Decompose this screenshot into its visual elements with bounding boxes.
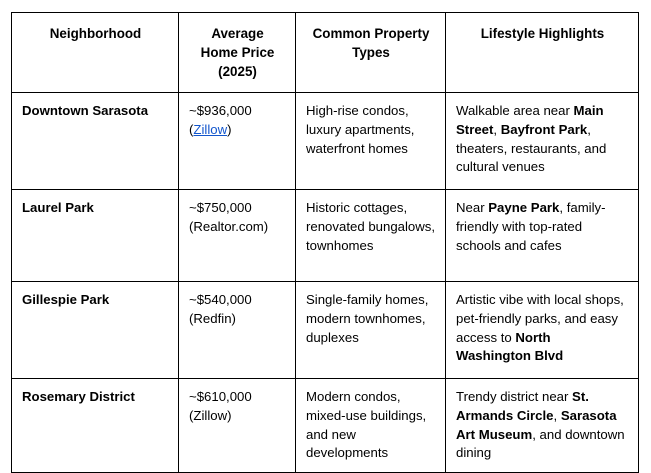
cell-average-home-price: ~$540,000 (Redfin) [179,282,296,379]
price-source-text: Zillow [193,408,227,423]
column-header-price-line-3: (2025) [189,62,286,81]
column-header-price-line-1: Average [189,24,286,43]
cell-neighborhood: Laurel Park [12,190,179,282]
column-header-common-property-types: Common Property Types [296,13,446,93]
cell-lifestyle-highlights: Walkable area near Main Street, Bayfront… [446,93,639,190]
column-header-types-line-2: Types [306,43,436,62]
table-header-row: Neighborhood Average Home Price (2025) C… [12,13,639,93]
price-source-line: (Realtor.com) [189,218,286,237]
table-header: Neighborhood Average Home Price (2025) C… [12,13,639,93]
price-value: ~$540,000 [189,291,286,310]
price-source-text: Redfin [193,311,231,326]
price-source-line: (Redfin) [189,310,286,329]
cell-average-home-price: ~$750,000 (Realtor.com) [179,190,296,282]
column-header-average-home-price: Average Home Price (2025) [179,13,296,93]
neighborhood-comparison-table: Neighborhood Average Home Price (2025) C… [11,12,639,473]
paren-close: ) [232,311,236,326]
price-value: ~$936,000 [189,102,286,121]
table-row: Downtown Sarasota ~$936,000 (Zillow) Hig… [12,93,639,190]
cell-lifestyle-highlights: Near Payne Park, family-friendly with to… [446,190,639,282]
table-row: Laurel Park ~$750,000 (Realtor.com) Hist… [12,190,639,282]
landmark-name: Bayfront Park [501,122,587,137]
column-header-neighborhood-line-1: Neighborhood [22,24,169,43]
table-body: Downtown Sarasota ~$936,000 (Zillow) Hig… [12,93,639,473]
cell-common-property-types: Modern condos, mixed-use buildings, and … [296,379,446,473]
price-value: ~$750,000 [189,199,286,218]
cell-average-home-price: ~$936,000 (Zillow) [179,93,296,190]
column-header-lifestyle-line-1: Lifestyle Highlights [456,24,629,43]
lifestyle-text: Walkable area near [456,103,574,118]
lifestyle-text: Trendy district near [456,389,572,404]
cell-neighborhood: Rosemary District [12,379,179,473]
cell-common-property-types: Historic cottages, renovated bungalows, … [296,190,446,282]
table-row: Gillespie Park ~$540,000 (Redfin) Single… [12,282,639,379]
paren-close: ) [264,219,268,234]
column-header-types-line-1: Common Property [306,24,436,43]
cell-neighborhood: Gillespie Park [12,282,179,379]
lifestyle-text: , [553,408,560,423]
price-value: ~$610,000 [189,388,286,407]
cell-common-property-types: Single-family homes, modern townhomes, d… [296,282,446,379]
price-source-line: (Zillow) [189,407,286,426]
column-header-price-line-2: Home Price [189,43,286,62]
paren-close: ) [227,408,231,423]
page-root: Neighborhood Average Home Price (2025) C… [0,0,651,470]
price-source-line: (Zillow) [189,121,286,140]
paren-close: ) [227,122,231,137]
cell-average-home-price: ~$610,000 (Zillow) [179,379,296,473]
price-source-text: Realtor.com [193,219,263,234]
landmark-name: Payne Park [488,200,559,215]
neighborhood-table-container: Neighborhood Average Home Price (2025) C… [11,12,638,473]
table-row: Rosemary District ~$610,000 (Zillow) Mod… [12,379,639,473]
lifestyle-text: , [493,122,500,137]
cell-neighborhood: Downtown Sarasota [12,93,179,190]
lifestyle-text: Near [456,200,488,215]
cell-lifestyle-highlights: Artistic vibe with local shops, pet-frie… [446,282,639,379]
cell-lifestyle-highlights: Trendy district near St. Armands Circle,… [446,379,639,473]
column-header-lifestyle-highlights: Lifestyle Highlights [446,13,639,93]
column-header-neighborhood: Neighborhood [12,13,179,93]
cell-common-property-types: High-rise condos, luxury apartments, wat… [296,93,446,190]
price-source-link-zillow[interactable]: Zillow [193,122,227,137]
